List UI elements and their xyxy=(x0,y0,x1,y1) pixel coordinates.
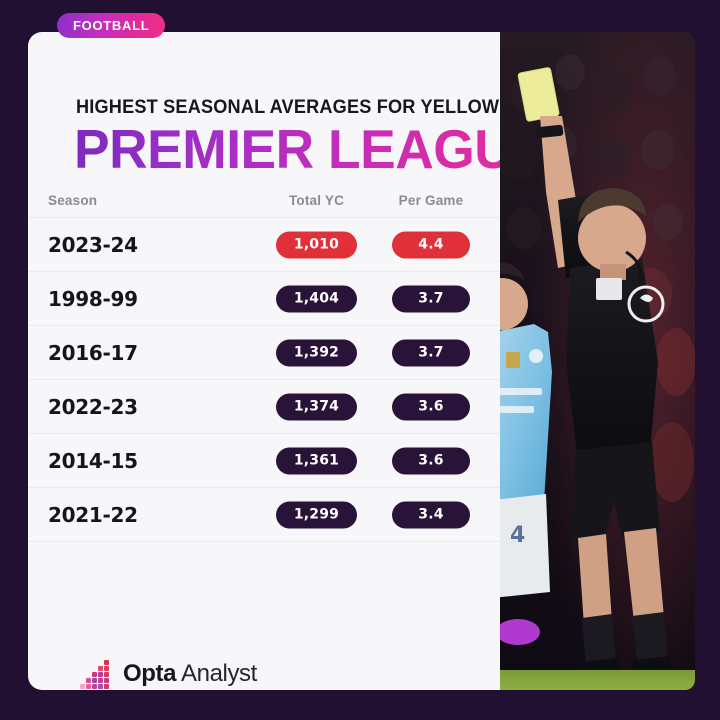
infographic-root: FOOTBALL HIGHEST SEASONAL AVERAGES FOR Y… xyxy=(0,0,720,720)
content-card: HIGHEST SEASONAL AVERAGES FOR YELLOW CAR… xyxy=(28,32,500,690)
table-row: 2022-23 1,374 3.6 xyxy=(28,380,500,434)
row-season: 2022-23 xyxy=(48,395,138,419)
row-season: 1998-99 xyxy=(48,287,138,311)
row-total-yc-pill: 1,361 xyxy=(276,447,357,474)
svg-text:4: 4 xyxy=(510,523,525,548)
table-row: 1998-99 1,404 3.7 xyxy=(28,272,500,326)
referee-photo: 4 xyxy=(500,32,695,690)
row-per-game-pill: 3.7 xyxy=(392,285,470,312)
row-per-game-pill: 3.6 xyxy=(392,393,470,420)
category-badge-label: FOOTBALL xyxy=(73,18,149,33)
table-row: 2016-17 1,392 3.7 xyxy=(28,326,500,380)
referee-photo-illustration: 4 xyxy=(500,32,695,690)
page-title: PREMIER LEAGUE xyxy=(74,122,500,177)
row-season: 2014-15 xyxy=(48,449,138,473)
row-total-yc-pill: 1,392 xyxy=(276,339,357,366)
opta-analyst-logo: Opta Analyst xyxy=(80,659,257,689)
row-per-game-pill: 3.6 xyxy=(392,447,470,474)
opta-bars-icon xyxy=(80,659,114,689)
row-season: 2016-17 xyxy=(48,341,138,365)
logo-light-text: Analyst xyxy=(176,660,257,687)
table-row: 2021-22 1,299 3.4 xyxy=(28,488,500,542)
row-total-yc-pill: 1,404 xyxy=(276,285,357,312)
row-per-game-pill: 3.4 xyxy=(392,501,470,528)
column-header-season: Season xyxy=(48,193,97,208)
kicker-text: HIGHEST SEASONAL AVERAGES FOR YELLOW CAR… xyxy=(76,96,500,119)
table-row: 2014-15 1,361 3.6 xyxy=(28,434,500,488)
table-header-row: Season Total YC Per Game xyxy=(28,172,500,218)
category-badge: FOOTBALL xyxy=(57,13,165,38)
row-per-game-pill: 3.7 xyxy=(392,339,470,366)
row-total-yc-pill: 1,299 xyxy=(276,501,357,528)
logo-bold-text: Opta xyxy=(123,660,176,687)
column-header-per-game: Per Game xyxy=(392,193,470,208)
stats-table: Season Total YC Per Game 2023-24 1,010 4… xyxy=(28,172,500,542)
table-row: 2023-24 1,010 4.4 xyxy=(28,218,500,272)
row-per-game-pill: 4.4 xyxy=(392,231,470,258)
row-total-yc-pill: 1,374 xyxy=(276,393,357,420)
row-season: 2021-22 xyxy=(48,503,138,527)
row-season: 2023-24 xyxy=(48,233,138,257)
row-total-yc-pill: 1,010 xyxy=(276,231,357,258)
opta-analyst-wordmark: Opta Analyst xyxy=(123,660,257,688)
column-header-total-yc: Total YC xyxy=(276,193,357,208)
